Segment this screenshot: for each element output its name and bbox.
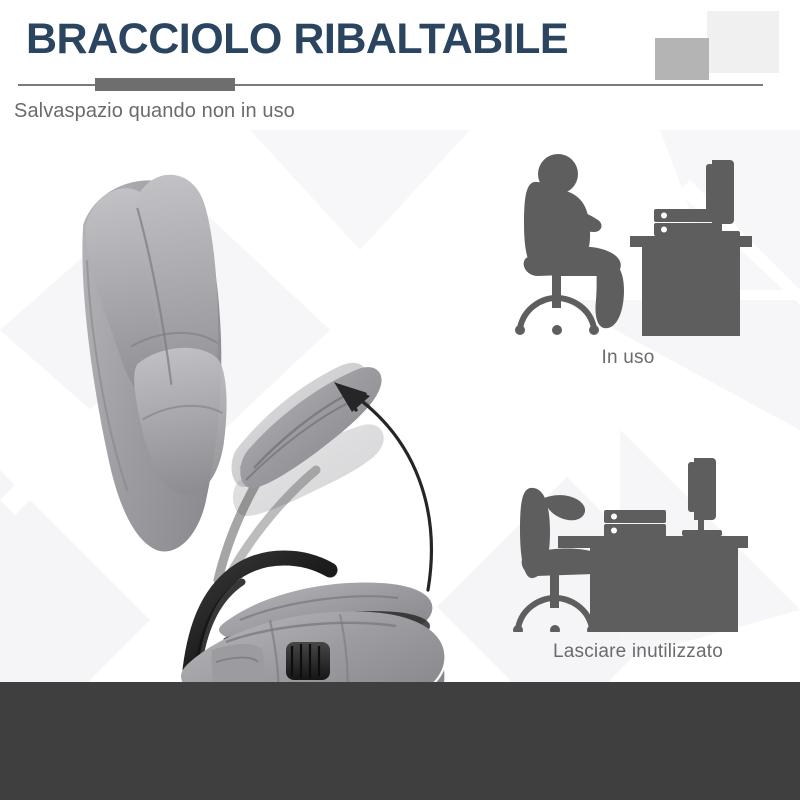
monitor-screen (712, 160, 734, 224)
decor-square-dark (655, 38, 709, 80)
monitor-bezel (688, 462, 696, 512)
person-head (538, 154, 578, 194)
usage-caption-unused: Lasciare inutilizzato (498, 641, 778, 663)
monitor-neck (716, 220, 722, 232)
header: BRACCIOLO RIBALTABILE Salvaspazio quando… (0, 0, 800, 130)
usage-block-in-use: In uso (498, 146, 758, 369)
desk-body (590, 548, 738, 632)
monitor-base (700, 231, 740, 237)
chair-column (550, 574, 559, 608)
chair-backrest (64, 169, 259, 558)
desk-top (630, 236, 752, 247)
chair-column (552, 274, 561, 308)
desk-top (558, 536, 748, 548)
page-title: BRACCIOLO RIBALTABILE (26, 18, 568, 61)
monitor-screen (694, 458, 716, 520)
monitor-bezel (706, 164, 714, 216)
usage-caption-in-use: In uso (498, 347, 758, 369)
decor-square-light (707, 11, 779, 73)
person-seated-at-desk-icon (498, 146, 758, 336)
armrest-flipped-up (544, 495, 585, 520)
page-subtitle: Salvaspazio quando non in uso (14, 100, 295, 123)
chair-tucked-under-desk-icon (498, 452, 778, 632)
infographic-canvas: BRACCIOLO RIBALTABILE Salvaspazio quando… (0, 0, 800, 800)
desk-body (642, 247, 740, 336)
monitor-base (682, 530, 722, 536)
title-divider-accent (95, 78, 235, 91)
tilt-knob (286, 642, 330, 680)
monitor-neck (698, 520, 704, 531)
bottom-band (0, 682, 800, 800)
usage-block-unused: Lasciare inutilizzato (498, 452, 778, 663)
